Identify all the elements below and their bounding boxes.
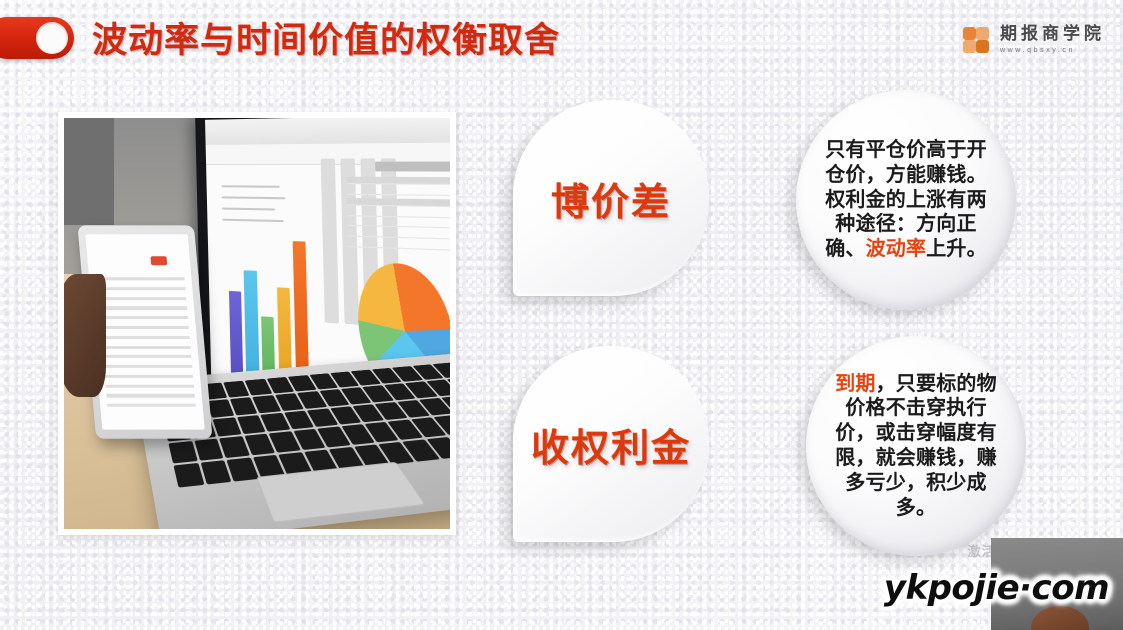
leaf-card-collect-premium[interactable]: 收权利金 bbox=[513, 346, 709, 542]
screen-text-line bbox=[222, 207, 275, 210]
bubble-text: 只有平仓价高于开仓价，方能赚钱。权利金的上涨有两种途径：方向正确、波动率上升。 bbox=[816, 138, 996, 262]
tablet-screen-accent bbox=[151, 256, 168, 266]
logo-mark-icon bbox=[963, 27, 993, 54]
title-bullet-pill-icon bbox=[0, 17, 74, 59]
leaf-card-label: 博价差 bbox=[551, 171, 671, 226]
table-row bbox=[348, 229, 450, 240]
logo-text-block: 期报商学院 www.qbsxy.cn bbox=[1000, 26, 1105, 54]
logo-url: www.qbsxy.cn bbox=[1000, 47, 1105, 54]
screen-data-table bbox=[347, 177, 450, 263]
page-title: 波动率与时间价值的权衡取舍 bbox=[92, 12, 560, 63]
site-watermark: ykpojie·com bbox=[884, 568, 1109, 608]
bubble-collect-premium[interactable]: 到期，只要标的物价格不击穿执行价，或击穿幅度有限，就会赚钱，赚多亏少，积少成多。 bbox=[806, 336, 1026, 556]
leaf-card-label: 收权利金 bbox=[531, 417, 691, 472]
screen-text-line bbox=[222, 185, 280, 188]
screen-bar-chart bbox=[226, 239, 327, 385]
table-row bbox=[347, 177, 450, 185]
screen-report-title bbox=[375, 161, 450, 170]
slide-root: 波动率与时间价值的权衡取舍 期报商学院 www.qbsxy.cn bbox=[0, 0, 1123, 630]
bubble-price-spread[interactable]: 只有平仓价高于开仓价，方能赚钱。权利金的上涨有两种途径：方向正确、波动率上升。 bbox=[796, 90, 1016, 310]
table-row bbox=[347, 198, 450, 207]
photo-frame bbox=[58, 112, 456, 535]
highlighted-text: 波动率 bbox=[866, 238, 927, 260]
screen-toolbar bbox=[205, 118, 450, 145]
table-row bbox=[348, 219, 450, 229]
photo-hand bbox=[64, 274, 106, 397]
table-row bbox=[347, 187, 450, 196]
logo-name: 期报商学院 bbox=[1000, 26, 1105, 43]
screen-text-line bbox=[222, 196, 286, 199]
highlighted-text: 到期 bbox=[835, 373, 875, 395]
photo-wall-dark bbox=[64, 118, 114, 225]
brand-logo: 期报商学院 www.qbsxy.cn bbox=[963, 26, 1105, 54]
webcam-face bbox=[1031, 606, 1089, 630]
bar-chart-bar bbox=[244, 270, 259, 379]
bar-chart-bar bbox=[229, 291, 243, 377]
table-row bbox=[348, 208, 450, 218]
laptop-tablet-photo bbox=[64, 118, 450, 529]
bar-chart-bar bbox=[293, 241, 309, 383]
slide-header: 波动率与时间价值的权衡取舍 期报商学院 www.qbsxy.cn bbox=[0, 0, 1123, 78]
table-row bbox=[348, 240, 450, 252]
screen-text-line bbox=[223, 219, 284, 222]
body-text: 上升。 bbox=[926, 238, 987, 260]
leaf-card-price-spread[interactable]: 博价差 bbox=[513, 100, 709, 296]
bubble-text: 到期，只要标的物价格不击穿执行价，或击穿幅度有限，就会赚钱，赚多亏少，积少成多。 bbox=[826, 372, 1006, 521]
